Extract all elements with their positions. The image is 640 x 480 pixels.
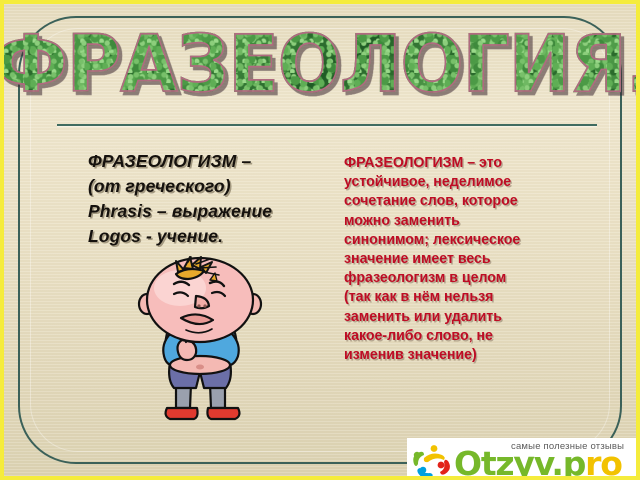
- definition-line-11: изменив значение): [344, 346, 553, 365]
- otzyv-brand-name: Otzyv.pro: [454, 447, 622, 480]
- otzyv-brand-part-green: Otzyv.p: [454, 444, 585, 480]
- title-area: ФРАЗЕОЛОГИЯ.: [4, 18, 640, 114]
- etymology-line-4: Logos - учение.: [88, 224, 328, 249]
- otzyv-people-logo-icon: [412, 444, 452, 480]
- etymology-line-2: (от греческого): [88, 174, 328, 199]
- definition-line-4: можно заменить: [344, 212, 553, 231]
- definition-line-6: значение имеет весь: [344, 250, 553, 269]
- page-title: ФРАЗЕОЛОГИЯ.: [0, 12, 640, 115]
- title-divider-rule: [57, 124, 597, 126]
- etymology-line-1: ФРАЗЕОЛОГИЗМ –: [88, 149, 328, 174]
- presentation-slide: ФРАЗЕОЛОГИЯ. ФРАЗЕОЛОГИЗМ – (от греческо…: [0, 0, 640, 480]
- otzyv-brand-part-gold: ro: [585, 444, 622, 480]
- otzyv-watermark: самые полезные отзывы Otzyv.pro: [407, 438, 640, 480]
- etymology-line-3: Phrasis – выражение: [88, 199, 328, 224]
- definition-line-1: ФРАЗЕОЛОГИЗМ – это: [344, 154, 553, 173]
- definition-line-7: фразеологизм в целом: [344, 269, 553, 288]
- definition-line-10: какое-либо слово, не: [344, 327, 553, 346]
- definition-line-9: заменить или удалить: [344, 308, 553, 327]
- thinking-boy-illustration: [134, 256, 266, 426]
- definition-line-5: синонимом; лексическое: [344, 231, 553, 250]
- definition-line-3: сочетание слов, которое: [344, 192, 553, 211]
- definition-text-block: ФРАЗЕОЛОГИЗМ – это устойчивое, неделимое…: [344, 154, 553, 365]
- definition-line-8: (так как в нём нельзя: [344, 288, 553, 307]
- etymology-text-block: ФРАЗЕОЛОГИЗМ – (от греческого) Phrasis –…: [88, 149, 328, 249]
- definition-line-2: устойчивое, неделимое: [344, 173, 553, 192]
